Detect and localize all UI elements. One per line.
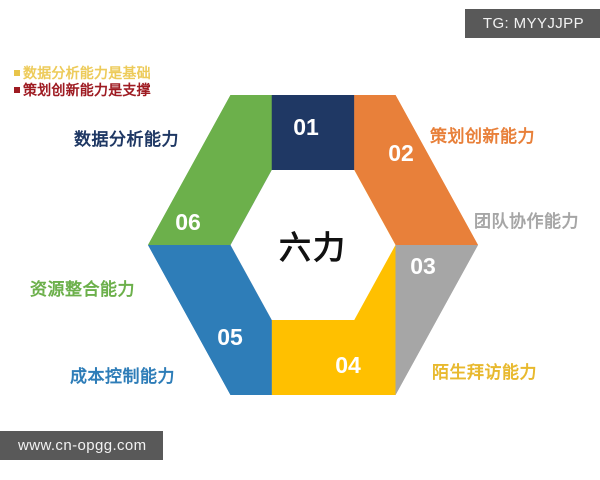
segment-01-number: 01 [293,114,319,140]
slide-canvas: 数据分析能力是基础 策划创新能力是支撑 [0,0,600,480]
legend-item-label: 数据分析能力是基础 [23,66,151,80]
hexagon-pinwheel-diagram: 01 02 03 04 05 06 六力 [148,95,478,395]
segment-02-number: 02 [388,140,414,166]
segment-01-label: 数据分析能力 [74,125,179,150]
watermark-tag-top-right: TG: MYYJJPP [465,9,600,38]
legend-item-1: 策划创新能力是支撑 [14,83,151,97]
segment-03-number: 03 [410,253,436,279]
segment-06-number: 06 [175,209,201,235]
segment-04-number: 04 [335,352,361,378]
legend-item-label: 策划创新能力是支撑 [23,83,151,97]
legend-bullet-icon [14,70,20,76]
segment-06-label: 资源整合能力 [30,275,135,300]
watermark-url-bottom-left: www.cn-opgg.com [0,431,163,460]
segment-02-label: 策划创新能力 [430,122,535,147]
legend-bullet-icon [14,87,20,93]
legend: 数据分析能力是基础 策划创新能力是支撑 [14,66,151,97]
legend-item-0: 数据分析能力是基础 [14,66,151,80]
segment-03-label: 团队协作能力 [474,207,579,232]
center-label: 六力 [279,229,347,265]
segment-04-label: 陌生拜访能力 [432,358,537,383]
segment-05-label: 成本控制能力 [70,362,175,387]
segment-05-number: 05 [217,324,243,350]
